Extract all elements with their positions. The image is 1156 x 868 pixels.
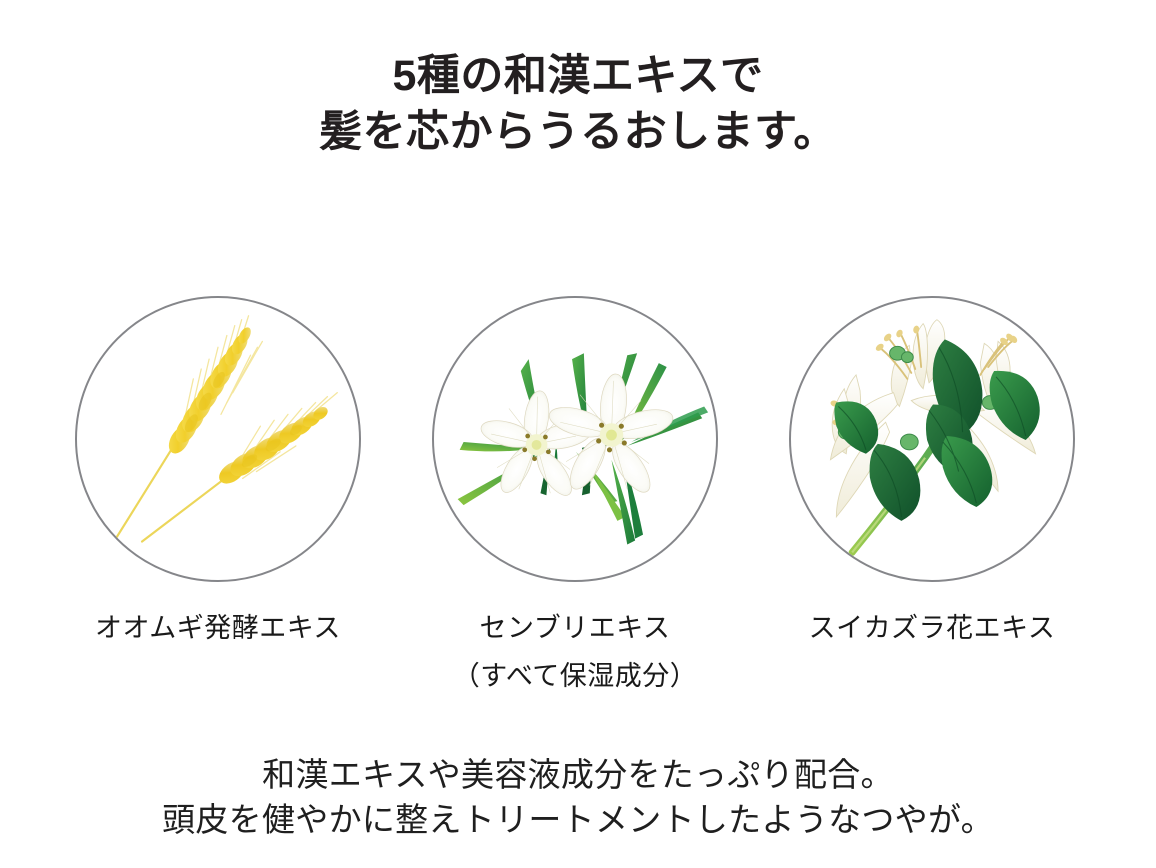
swertia-flowers-icon xyxy=(434,298,716,580)
footer-description-line-2: 頭皮を健やかに整えトリートメントしたようなつやが。 xyxy=(0,797,1156,842)
ingredient-caption-swertia: センブリエキス （すべて保湿成分） xyxy=(405,609,745,694)
ingredient-label: センブリエキス xyxy=(480,613,671,643)
ingredient-circle-honeysuckle xyxy=(789,296,1075,582)
ingredient-sublabel: （すべて保湿成分） xyxy=(405,658,745,694)
footer-description: 和漢エキスや美容液成分をたっぷり配合。 頭皮を健やかに整えトリートメントしたよう… xyxy=(0,752,1156,842)
circle-frame xyxy=(789,296,1075,582)
circle-frame xyxy=(75,296,361,582)
ingredient-label: オオムギ発酵エキス xyxy=(95,613,341,643)
page-title: 5種の和漢エキスで 髪を芯からうるおします。 xyxy=(0,48,1156,160)
page-title-line-2: 髪を芯からうるおします。 xyxy=(0,104,1156,160)
honeysuckle-flower-icon xyxy=(791,298,1073,580)
ingredient-captions-row: オオムギ発酵エキス センブリエキス （すべて保湿成分） スイカズラ花エキス xyxy=(0,609,1156,699)
ingredient-circle-swertia xyxy=(432,296,718,582)
ingredient-caption-honeysuckle: スイカズラ花エキス xyxy=(762,609,1102,647)
page-title-line-1: 5種の和漢エキスで xyxy=(0,48,1156,104)
ingredient-label: スイカズラ花エキス xyxy=(809,613,1056,643)
circle-frame xyxy=(432,296,718,582)
ingredient-infographic-page: 5種の和漢エキスで 髪を芯からうるおします。 xyxy=(0,0,1156,868)
barley-ears-icon xyxy=(77,298,359,580)
footer-description-line-1: 和漢エキスや美容液成分をたっぷり配合。 xyxy=(0,752,1156,797)
ingredient-circle-barley xyxy=(75,296,361,582)
ingredient-caption-barley: オオムギ発酵エキス xyxy=(48,609,388,647)
ingredient-circles-row xyxy=(0,296,1156,584)
